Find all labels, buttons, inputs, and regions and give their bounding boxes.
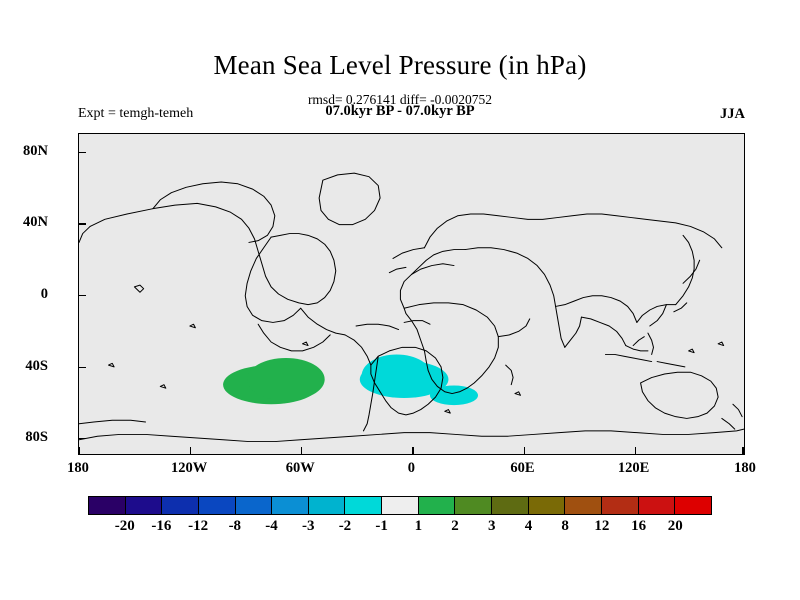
coastlines	[79, 173, 744, 441]
colorbar-tick-label-15: 20	[652, 518, 698, 535]
xtick-label-180W: 180	[38, 460, 118, 477]
xtick-0	[412, 447, 413, 454]
colorbar-segment-13	[565, 497, 602, 514]
colorbar-segment-11	[492, 497, 529, 514]
xtick-60E	[524, 447, 525, 454]
colorbar-segment-5	[272, 497, 309, 514]
ytick-40S	[79, 367, 86, 368]
ytick-label-80N: 80N	[0, 143, 48, 160]
page-title: Mean Sea Level Pressure (in hPa)	[0, 50, 800, 81]
region-negative-south-atlantic-2	[362, 354, 432, 397]
colorbar-segment-2	[162, 497, 199, 514]
xtick-60W	[301, 447, 302, 454]
world-map-svg	[79, 134, 744, 454]
colorbar-segment-4	[236, 497, 273, 514]
ytick-label-80S: 80S	[0, 429, 48, 446]
colorbar-segment-9	[419, 497, 456, 514]
xtick-label-180E: 180	[705, 460, 785, 477]
ytick-label-40S: 40S	[0, 358, 48, 375]
colorbar-segment-16	[675, 497, 711, 514]
figure-canvas: Mean Sea Level Pressure (in hPa) rmsd= 0…	[0, 0, 800, 600]
xtick-180E	[742, 447, 743, 454]
anomaly-regions	[223, 354, 478, 405]
colorbar-segment-3	[199, 497, 236, 514]
experiment-label: Expt = temgh-temeh	[78, 106, 193, 122]
ytick-80N	[79, 152, 86, 153]
ytick-0	[79, 295, 86, 296]
colorbar-segment-0	[89, 497, 126, 514]
xtick-label-120W: 120W	[149, 460, 229, 477]
xtick-label-0: 0	[371, 460, 451, 477]
xtick-120E	[635, 447, 636, 454]
map-plot-area	[78, 133, 745, 455]
ytick-label-40N: 40N	[0, 214, 48, 231]
colorbar-segment-6	[309, 497, 346, 514]
colorbar-segment-1	[126, 497, 163, 514]
colorbar-segment-15	[639, 497, 676, 514]
xtick-label-60E: 60E	[483, 460, 563, 477]
xtick-120W	[190, 447, 191, 454]
colorbar-segment-10	[455, 497, 492, 514]
colorbar	[88, 496, 712, 515]
region-positive-southeast-pacific-2	[247, 358, 325, 401]
season-label: JJA	[720, 106, 745, 123]
ytick-label-0: 0	[0, 286, 48, 303]
xtick-label-120E: 120E	[594, 460, 674, 477]
ytick-80S	[79, 438, 86, 439]
colorbar-segment-8	[382, 497, 419, 514]
colorbar-segment-12	[529, 497, 566, 514]
xtick-label-60W: 60W	[260, 460, 340, 477]
colorbar-segment-14	[602, 497, 639, 514]
colorbar-segment-7	[345, 497, 382, 514]
xtick-180W	[79, 447, 80, 454]
ytick-40N	[79, 223, 86, 224]
